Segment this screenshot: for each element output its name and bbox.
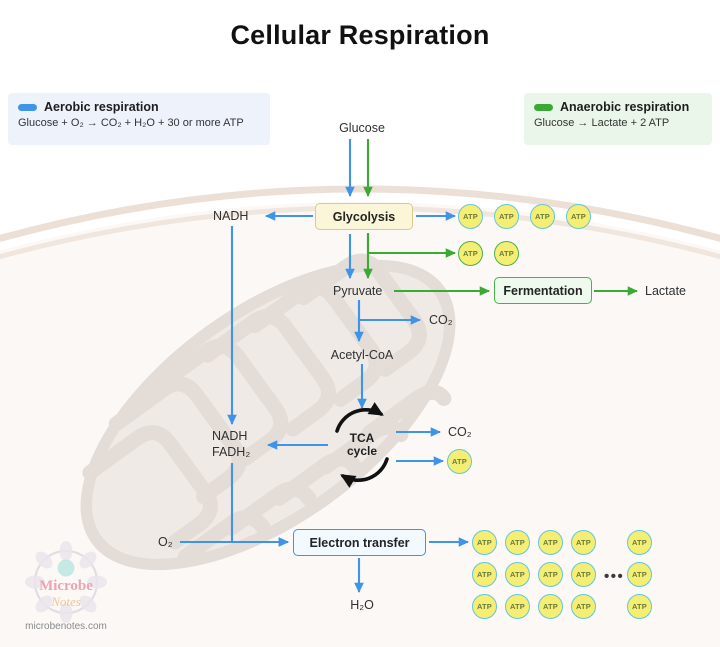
legend-anaerobic-equation: Glucose → Lactate + 2 ATP	[534, 117, 702, 129]
atp-token-etc-r3c3: ATP	[538, 594, 563, 619]
label-fadh2-tca: FADH₂	[212, 445, 250, 459]
atp-token-etc-r2c2: ATP	[505, 562, 530, 587]
process-box-glycolysis[interactable]: Glycolysis	[315, 203, 413, 230]
process-box-electron-transfer[interactable]: Electron transfer	[293, 529, 426, 556]
atp-token-etc-r3c4: ATP	[571, 594, 596, 619]
legend-anaerobic-head: Anaerobic respiration	[534, 100, 702, 114]
logo-brand-line1: Microbe	[39, 578, 93, 594]
label-lactate: Lactate	[645, 284, 686, 298]
legend-aerobic-color-swatch	[18, 104, 37, 111]
legend-aerobic: Aerobic respiration Glucose + O₂ → CO₂ +…	[8, 93, 270, 145]
atp-token-etc-r3c1: ATP	[472, 594, 497, 619]
atp-token-etc-tail-2: ATP	[627, 562, 652, 587]
atp-token-etc-tail-1: ATP	[627, 530, 652, 555]
logo-url: microbenotes.com	[8, 621, 124, 632]
label-acetyl-coa: Acetyl-CoA	[331, 348, 394, 362]
atp-token-etc-r1c4: ATP	[571, 530, 596, 555]
atp-token-etc-r1c2: ATP	[505, 530, 530, 555]
process-box-fermentation[interactable]: Fermentation	[494, 277, 592, 304]
atp-token-anaerobic-2: ATP	[494, 241, 519, 266]
legend-anaerobic-label: Anaerobic respiration	[560, 100, 689, 114]
atp-token-etc-r3c2: ATP	[505, 594, 530, 619]
atp-token-etc-tail-3: ATP	[627, 594, 652, 619]
label-glucose: Glucose	[339, 121, 385, 135]
tca-label-line1: TCA	[350, 432, 375, 445]
legend-anaerobic: Anaerobic respiration Glucose → Lactate …	[524, 93, 712, 145]
label-co2-tca: CO₂	[448, 425, 472, 439]
microbe-notes-logo: Microbe Notes	[8, 540, 124, 630]
atp-token-etc-r2c4: ATP	[571, 562, 596, 587]
label-o2: O₂	[158, 535, 173, 549]
label-nadh-glycolysis: NADH	[213, 209, 248, 223]
label-h2o: H₂O	[350, 598, 374, 612]
atp-token-etc-r1c1: ATP	[472, 530, 497, 555]
label-co2-pyruvate: CO₂	[429, 313, 453, 327]
legend-aerobic-head: Aerobic respiration	[18, 100, 260, 114]
tca-label-line2: cycle	[347, 445, 377, 458]
tca-cycle-text: TCA cycle	[330, 413, 394, 477]
logo-brand-line2: Notes	[50, 594, 81, 609]
label-nadh-tca: NADH	[212, 429, 247, 443]
diagram-canvas: Cellular Respiration Aerobic respiration…	[0, 0, 720, 647]
atp-token-glycolysis-3: ATP	[530, 204, 555, 229]
atp-token-glycolysis-4: ATP	[566, 204, 591, 229]
tca-cycle-node[interactable]: TCA cycle	[330, 413, 394, 477]
atp-grid-ellipsis: •••	[604, 569, 624, 584]
atp-token-glycolysis-2: ATP	[494, 204, 519, 229]
legend-aerobic-equation: Glucose + O₂ → CO₂ + H₂O + 30 or more AT…	[18, 117, 260, 129]
atp-token-anaerobic-1: ATP	[458, 241, 483, 266]
atp-token-etc-r1c3: ATP	[538, 530, 563, 555]
legend-aerobic-label: Aerobic respiration	[44, 100, 159, 114]
page-title: Cellular Respiration	[0, 20, 720, 51]
atp-token-etc-r2c3: ATP	[538, 562, 563, 587]
atp-token-etc-r2c1: ATP	[472, 562, 497, 587]
atp-token-glycolysis-1: ATP	[458, 204, 483, 229]
atp-token-tca-1: ATP	[447, 449, 472, 474]
label-pyruvate: Pyruvate	[333, 284, 382, 298]
legend-anaerobic-color-swatch	[534, 104, 553, 111]
